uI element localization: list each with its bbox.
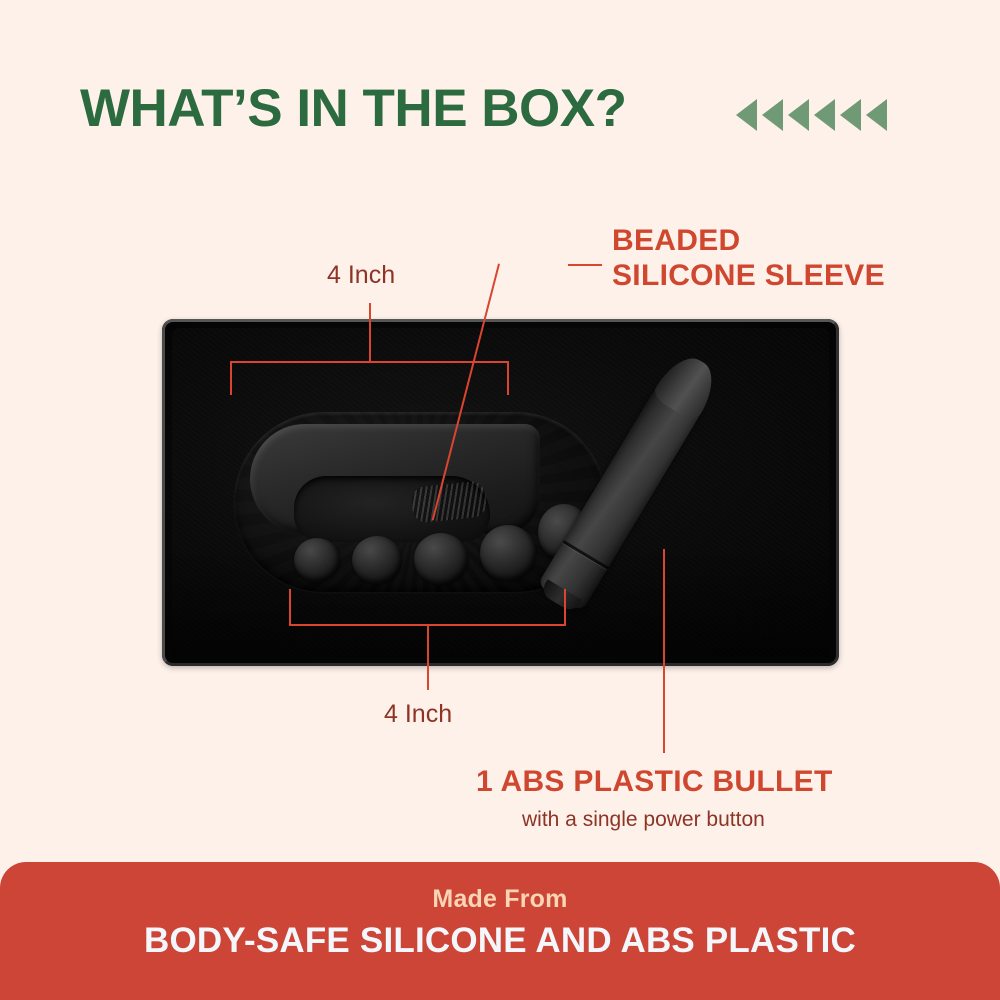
callout-sleeve-line1: BEADED [612, 224, 885, 259]
triangle-left-icon [814, 99, 835, 131]
leader-line-bullet [663, 549, 665, 753]
callout-bullet-subtitle: with a single power button [522, 808, 765, 832]
leader-line-bottom [427, 624, 429, 690]
bead [352, 536, 402, 584]
triangle-left-icon [788, 99, 809, 131]
page-title: WHAT’S IN THE BOX? [80, 78, 627, 139]
callout-beaded-silicone-sleeve: BEADED SILICONE SLEEVE [612, 224, 885, 294]
banner-main-text: BODY-SAFE SILICONE AND ABS PLASTIC [0, 921, 1000, 961]
triangle-left-icon [762, 99, 783, 131]
dimension-label-top: 4 Inch [327, 261, 395, 290]
materials-banner: Made From BODY-SAFE SILICONE AND ABS PLA… [0, 862, 1000, 1000]
triangle-left-icon [840, 99, 861, 131]
leader-line-sleeve-horizontal [568, 264, 602, 266]
leader-line-top [369, 303, 371, 363]
callout-sleeve-line2: SILICONE SLEEVE [612, 259, 885, 294]
arrow-decoration-strip [736, 99, 887, 131]
bead [294, 538, 340, 582]
bead [480, 525, 536, 581]
callout-abs-plastic-bullet: 1 ABS PLASTIC BULLET [476, 765, 833, 800]
triangle-left-icon [866, 99, 887, 131]
banner-eyebrow: Made From [0, 885, 1000, 914]
triangle-left-icon [736, 99, 757, 131]
measurement-bracket-bottom [289, 589, 566, 626]
bullet-seam [563, 540, 609, 569]
bead [414, 533, 468, 585]
infographic-canvas: WHAT’S IN THE BOX? [0, 0, 1000, 1000]
dimension-label-bottom: 4 Inch [384, 700, 452, 729]
beaded-silicone-sleeve [250, 424, 540, 534]
